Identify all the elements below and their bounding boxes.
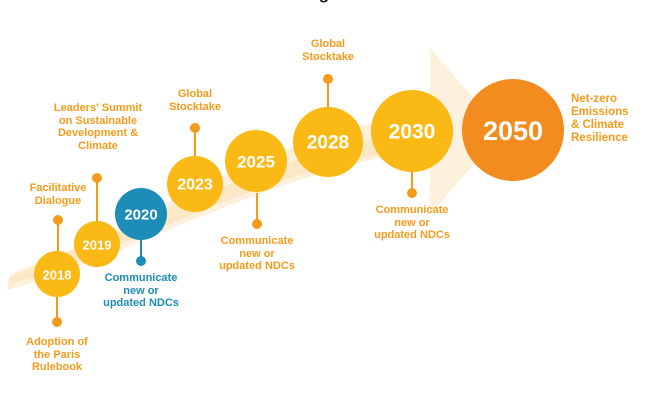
- connector-dot-communicate-ndcs-2020: [136, 256, 146, 266]
- year-label-2030: 2030: [389, 121, 436, 144]
- year-label-2020: 2020: [124, 207, 157, 224]
- connector-dot-global-stocktake-2023: [190, 123, 200, 133]
- connector-dot-facilitative-dialogue: [53, 215, 63, 225]
- annotation-facilitative-dialogue: Facilitative Dialogue: [14, 182, 102, 207]
- year-label-2025: 2025: [237, 153, 275, 172]
- year-label-2023: 2023: [177, 177, 213, 194]
- annotation-leaders-summit: Leaders' Summit on Sustainable Developme…: [43, 102, 153, 152]
- year-label-2028: 2028: [307, 133, 349, 154]
- annotation-global-stocktake-2028: Global Stocktake: [284, 38, 372, 63]
- annotation-adoption-paris-rulebook: Adoption of the Paris Rulebook: [8, 336, 106, 374]
- connector-dot-communicate-ndcs-2030: [407, 188, 417, 198]
- connector-dot-adoption-paris-rulebook: [52, 317, 62, 327]
- year-label-2050: 2050: [483, 116, 543, 146]
- annotation-communicate-ndcs-2030: Communicate new or updated NDCs: [359, 204, 465, 242]
- connector-dot-global-stocktake-2028: [323, 74, 333, 84]
- annotation-communicate-ndcs-2020: Communicate new or updated NDCs: [88, 272, 194, 310]
- annotation-net-zero-outcome: Net-zero Emissions & Climate Resilience: [571, 93, 647, 145]
- annotation-communicate-ndcs-2025: Communicate new or updated NDCs: [204, 235, 310, 273]
- year-label-2018: 2018: [43, 268, 72, 283]
- year-label-2019: 2019: [83, 238, 112, 253]
- connector-dot-communicate-ndcs-2025: [252, 219, 262, 229]
- timeline-infographic: g 20182019202020232025202820302050 Adopt…: [0, 0, 648, 405]
- annotation-global-stocktake-2023: Global Stocktake: [151, 88, 239, 113]
